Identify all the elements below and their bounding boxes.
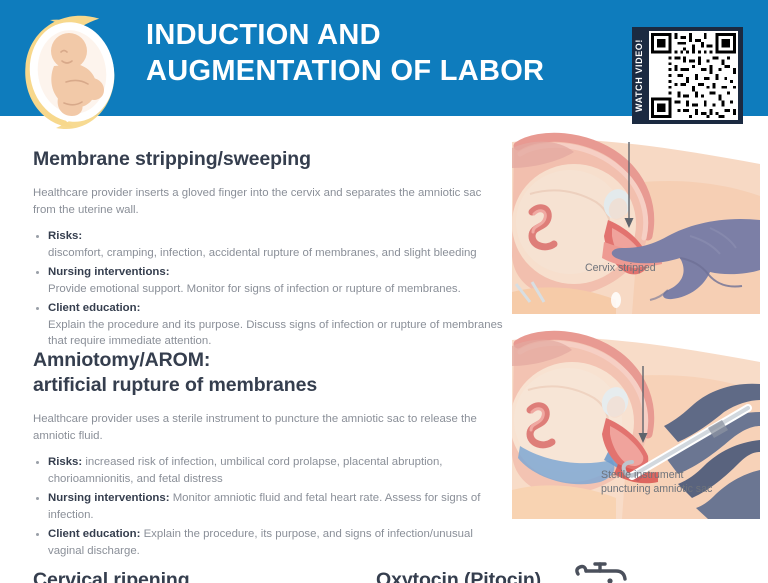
list-item: Risks: increased risk of infection, umbi… — [33, 454, 503, 487]
section-amniotomy-lede: Healthcare provider uses a sterile instr… — [33, 411, 488, 444]
section-amniotomy-bullets: Risks: increased risk of infection, umbi… — [33, 454, 503, 559]
bullet-text: Explain the procedure and its purpose. D… — [48, 319, 503, 348]
section-membrane-bullets: Risks: discomfort, cramping, infection, … — [33, 228, 503, 350]
page-header: INDUCTION AND AUGMENTATION OF LABOR WATC… — [0, 0, 768, 116]
page-title-line-2: AUGMENTATION OF LABOR — [146, 53, 616, 89]
list-item: Risks: discomfort, cramping, infection, … — [33, 228, 503, 261]
bullet-label: Nursing interventions: — [48, 264, 503, 281]
page-title: INDUCTION AND AUGMENTATION OF LABOR — [146, 17, 616, 89]
section-amniotomy: Amniotomy/AROM: artificial rupture of me… — [33, 348, 503, 562]
section-cervical-ripening-title: Cervical ripening — [33, 568, 190, 583]
list-item: Nursing interventions: Monitor amniotic … — [33, 490, 503, 523]
watch-video-qr-block[interactable]: WATCH VIDEO! — [632, 27, 743, 124]
section-amniotomy-title-line-1: Amniotomy/AROM: — [33, 348, 503, 373]
brand-logo — [14, 6, 134, 134]
list-item: Client education: Explain the procedure … — [33, 300, 503, 350]
iv-pump-icon-svg — [572, 554, 636, 583]
bullet-text: discomfort, cramping, infection, acciden… — [48, 247, 477, 259]
bullet-label: Risks: — [48, 228, 503, 245]
callout-cervix-stripped: Cervix stripped — [585, 261, 656, 275]
section-amniotomy-title-line-2: artificial rupture of membranes — [33, 373, 503, 398]
section-oxytocin-title: Oxytocin (Pitocin) — [376, 568, 541, 583]
cervix-stripping-illustration — [512, 124, 760, 314]
callout-sterile-instrument-line-1: Sterile instrument — [601, 468, 712, 482]
iv-pump-icon — [572, 554, 636, 583]
bullet-text: Provide emotional support. Monitor for s… — [48, 283, 461, 295]
section-membrane-title: Membrane stripping/sweeping — [33, 147, 503, 172]
bullet-label: Risks: — [48, 456, 82, 468]
callout-sterile-instrument-line-2: puncturing amniotic sac — [601, 482, 712, 496]
section-amniotomy-title: Amniotomy/AROM: artificial rupture of me… — [33, 348, 503, 398]
watch-video-label: WATCH VIDEO! — [635, 39, 649, 112]
callout-cervix-stripped-text: Cervix stripped — [585, 262, 656, 274]
bullet-text: increased risk of infection, umbilical c… — [48, 456, 442, 485]
section-membrane-lede: Healthcare provider inserts a gloved fin… — [33, 185, 488, 218]
cervix-stripping-illustration-icon — [512, 124, 760, 314]
list-item: Nursing interventions: Provide emotional… — [33, 264, 503, 297]
callout-sterile-instrument: Sterile instrument puncturing amniotic s… — [601, 468, 712, 496]
bottom-section-row: Cervical ripening Oxytocin (Pitocin) — [0, 552, 768, 583]
page-title-line-1: INDUCTION AND — [146, 17, 616, 53]
bullet-label: Nursing interventions: — [48, 492, 170, 504]
qr-code-svg — [651, 33, 736, 118]
page-content: Membrane stripping/sweeping Healthcare p… — [0, 116, 768, 583]
bullet-label: Client education: — [48, 300, 503, 317]
fetus-in-womb-logo-icon — [14, 6, 134, 134]
bullet-label: Client education: — [48, 528, 140, 540]
qr-code-icon[interactable] — [649, 31, 738, 120]
section-membrane-stripping: Membrane stripping/sweeping Healthcare p… — [33, 147, 503, 353]
